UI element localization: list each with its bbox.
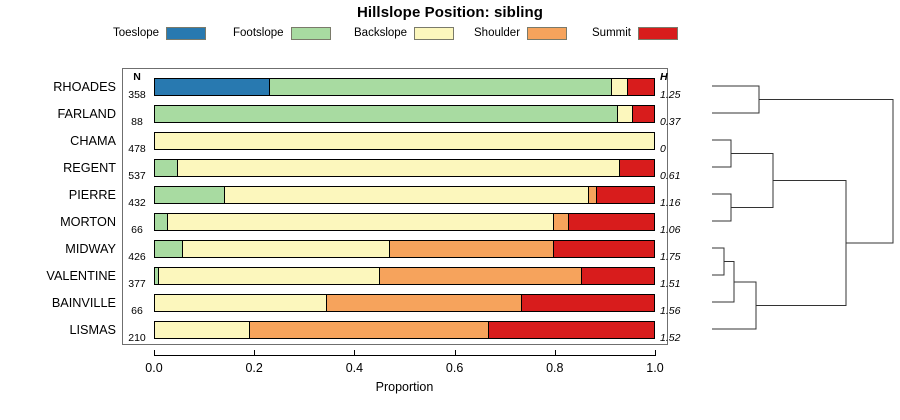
x-tick-label: 0.4 [334,361,374,375]
bar-segment-backslope [225,187,589,203]
bar-segment-summit [633,106,654,122]
bar-segment-backslope [168,214,554,230]
table-row [154,294,655,312]
x-tick-label: 0.2 [234,361,274,375]
bar-segment-summit [628,79,654,95]
bar-segment-backslope [155,322,250,338]
x-tick-label: 0.0 [134,361,174,375]
table-row [154,267,655,285]
bar-segment-footslope [155,214,168,230]
legend-item-toeslope: Toeslope [113,24,206,42]
category-label-pierre: PIERRE [4,188,116,202]
legend-label: Toeslope [113,27,159,39]
legend-item-shoulder: Shoulder [474,24,567,42]
legend-item-backslope: Backslope [354,24,454,42]
n-value: 478 [122,143,152,155]
x-tick [455,350,456,356]
legend-swatch [291,27,331,40]
legend-swatch [414,27,454,40]
bar-segment-footslope [155,106,618,122]
x-tick-label: 0.6 [435,361,475,375]
n-value: 358 [122,89,152,101]
bar-segment-summit [554,241,654,257]
bar-segment-shoulder [589,187,596,203]
bar-segment-backslope [155,295,327,311]
n-value: 537 [122,170,152,182]
n-value: 88 [122,116,152,128]
dendro-merge-pierre-morton [712,194,731,221]
n-value: 432 [122,197,152,209]
category-label-regent: REGENT [4,161,116,175]
table-row [154,159,655,177]
n-value: 66 [122,224,152,236]
bar-segment-summit [569,214,654,230]
dendro-merge-midway-valentine [712,248,724,275]
bar-segment-backslope [618,106,633,122]
n-value: 377 [122,278,152,290]
x-tick [254,350,255,356]
table-row [154,240,655,258]
bar-segment-toeslope [155,79,270,95]
x-tick [555,350,556,356]
x-tick-label: 1.0 [635,361,675,375]
bar-segment-backslope [183,241,390,257]
bar-segment-shoulder [327,295,522,311]
n-value: 426 [122,251,152,263]
table-row [154,132,655,150]
legend-item-summit: Summit [592,24,678,42]
category-label-morton: MORTON [4,215,116,229]
legend-label: Summit [592,27,631,39]
category-label-midway: MIDWAY [4,242,116,256]
x-tick-label: 0.8 [535,361,575,375]
bar-segment-shoulder [554,214,569,230]
x-tick [154,350,155,356]
legend-swatch [166,27,206,40]
chart-title: Hillslope Position: sibling [0,4,900,21]
legend-item-footslope: Footslope [233,24,331,42]
category-label-bainville: BAINVILLE [4,296,116,310]
bar-segment-summit [489,322,654,338]
dendrogram [668,60,900,352]
bar-segment-summit [597,187,654,203]
legend-label: Shoulder [474,27,520,39]
category-label-valentine: VALENTINE [4,269,116,283]
bar-segment-backslope [155,133,654,149]
table-row [154,186,655,204]
bar-segment-backslope [612,79,628,95]
n-value: 66 [122,305,152,317]
legend-swatch [527,27,567,40]
legend-label: Footslope [233,27,284,39]
bar-segment-footslope [155,241,183,257]
bar-segment-shoulder [250,322,490,338]
bar-segment-summit [620,160,654,176]
bar-segment-footslope [155,160,178,176]
category-label-lismas: LISMAS [4,323,116,337]
x-axis-title: Proportion [154,380,655,394]
table-row [154,78,655,96]
category-label-rhoades: RHOADES [4,80,116,94]
bar-segment-footslope [155,187,225,203]
category-label-farland: FARLAND [4,107,116,121]
dendro-merge-rhoades-farland [712,86,759,113]
n-column-header: N [122,71,152,83]
bar-segment-backslope [178,160,620,176]
bar-segment-shoulder [380,268,582,284]
bar-segment-backslope [159,268,380,284]
bar-segment-footslope [270,79,612,95]
legend-label: Backslope [354,27,407,39]
table-row [154,321,655,339]
dendro-merge-chama-regent [712,140,731,167]
x-axis-line [154,355,655,356]
chart-figure: Hillslope Position: sibling ToeslopeFoot… [0,0,900,420]
table-row [154,213,655,231]
bar-segment-summit [582,268,654,284]
dendro-merge-group-mid-low [756,181,846,306]
dendro-merge-root [759,100,893,243]
bar-segment-summit [522,295,654,311]
x-tick [354,350,355,356]
table-row [154,105,655,123]
dendrogram-svg [668,60,900,352]
dendro-merge-chama-pierre [731,154,773,208]
bar-segment-shoulder [390,241,555,257]
dendro-merge-bainville [712,262,734,303]
x-tick [655,350,656,356]
category-label-chama: CHAMA [4,134,116,148]
legend-swatch [638,27,678,40]
n-value: 210 [122,332,152,344]
legend: ToeslopeFootslopeBackslopeShoulderSummit [113,24,793,42]
